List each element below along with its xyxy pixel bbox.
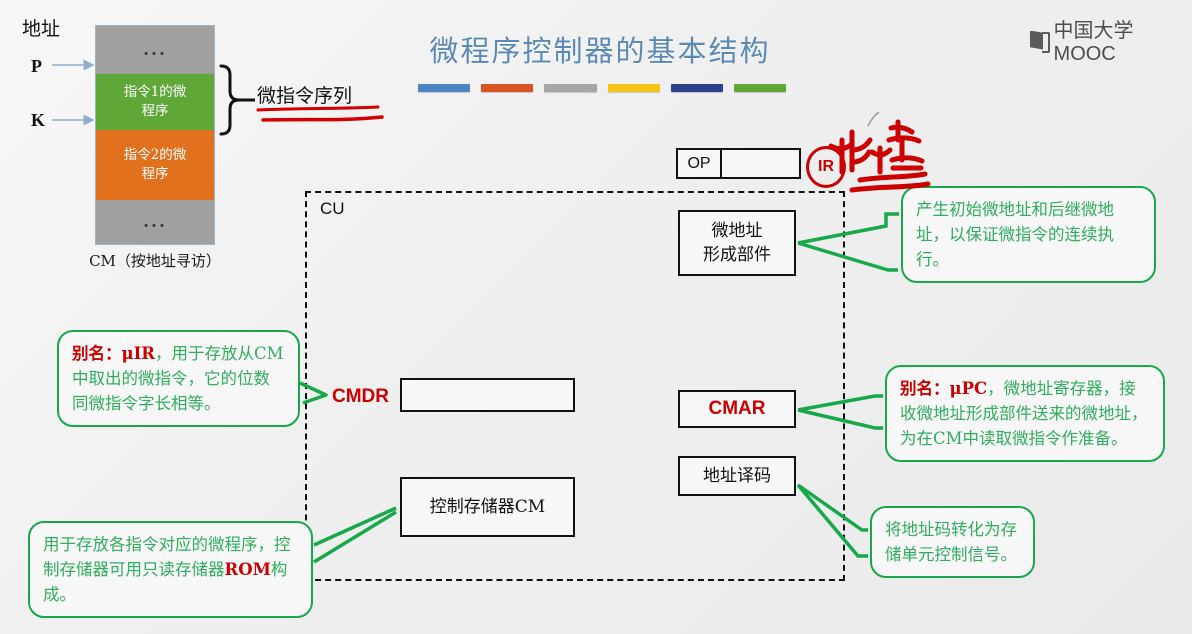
pointer-k-label: K xyxy=(31,110,45,131)
title-bar-2 xyxy=(481,84,533,92)
address-decode-box: 地址译码 xyxy=(678,456,796,496)
op-field-label: OP xyxy=(678,150,722,177)
title-bar-3 xyxy=(544,84,596,92)
micro-instruction-sequence-label: 微指令序列 xyxy=(257,81,352,108)
control-memory-column: ...指令1的微程序指令2的微程序... xyxy=(95,25,215,245)
logo-text: 中国大学MOOC xyxy=(1054,14,1192,66)
cu-label: CU xyxy=(320,199,345,219)
title-bar-5 xyxy=(671,84,723,92)
page-title: 微程序控制器的基本结构 xyxy=(400,28,800,70)
title-bar-6 xyxy=(734,84,786,92)
callout-cmdr: 别名：μIR，用于存放从CM中取出的微指令，它的位数同微指令字长相等。 xyxy=(57,330,300,427)
callout-micro-address-former: 产生初始微地址和后继微地址，以保证微指令的连续执行。 xyxy=(901,186,1156,283)
title-bar-1 xyxy=(418,84,470,92)
callout-address-decode: 将地址码转化为存储单元控制信号。 xyxy=(870,506,1035,578)
memory-cell-1: 指令1的微程序 xyxy=(96,74,214,130)
address-label: 地址 xyxy=(22,14,60,41)
title-bar-4 xyxy=(608,84,660,92)
memory-cell-2: 指令2的微程序 xyxy=(96,130,214,200)
callout-cmar: 别名：μPC，微地址寄存器，接收微地址形成部件送来的微地址，为在CM中读取微指令… xyxy=(885,365,1165,462)
operand-field xyxy=(722,150,799,177)
ir-annotation-circle: IR xyxy=(806,146,846,188)
callout-control-store: 用于存放各指令对应的微程序，控制存储器可用只读存储器ROM构成。 xyxy=(28,521,313,618)
control-memory-caption: CM（按地址寻访） xyxy=(55,250,255,271)
cmdr-box xyxy=(400,378,575,412)
micro-address-former-box: 微地址形成部件 xyxy=(678,210,796,276)
memory-cell-3: ... xyxy=(96,200,214,244)
book-icon xyxy=(1030,31,1048,50)
cmdr-label: CMDR xyxy=(332,386,389,408)
micro-address-former-label: 微地址形成部件 xyxy=(703,219,771,267)
memory-cell-0: ... xyxy=(96,26,214,74)
pointer-p-label: P xyxy=(31,56,42,77)
control-store-box: 控制存储器CM xyxy=(400,477,575,537)
callout-cmdr-alias: μIR xyxy=(122,344,156,363)
slide-canvas: 微程序控制器的基本结构 中国大学MOOC 地址 P K ...指令1的微程序指令… xyxy=(0,0,1192,634)
instruction-register-box: OP xyxy=(676,148,801,179)
mooc-logo: 中国大学MOOC xyxy=(1030,14,1192,66)
callout-control-store-rom: ROM xyxy=(225,560,271,579)
callout-cmdr-prefix: 别名： xyxy=(72,344,122,363)
callout-cmar-prefix: 别名： xyxy=(900,379,950,398)
cmar-box: CMAR xyxy=(678,390,796,428)
callout-cmar-alias: μPC xyxy=(950,379,988,398)
title-decoration-bars xyxy=(418,84,786,92)
